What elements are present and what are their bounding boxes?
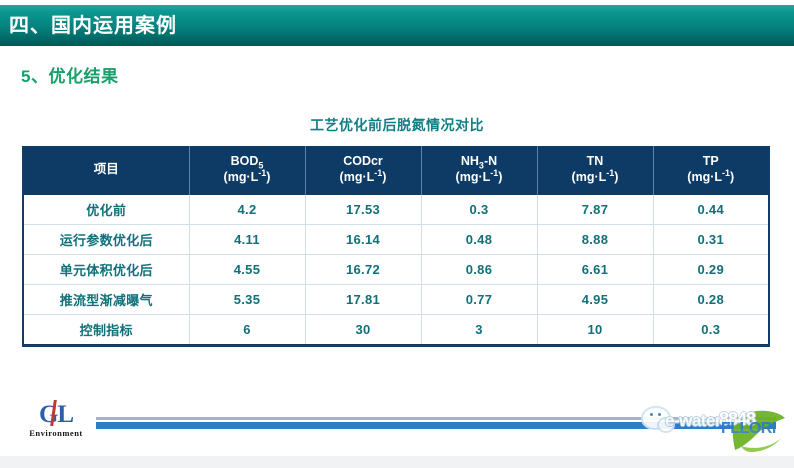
column-header-unit: (mg·L: [572, 170, 607, 184]
column-header-unit: (mg·L: [687, 170, 722, 184]
watermark-brand: FLLORI: [721, 420, 776, 438]
column-header-codcr: CODcr (mg·L-1): [305, 146, 421, 195]
cell-bod5: 4.11: [189, 225, 305, 255]
row-label: 单元体积优化后: [23, 255, 189, 285]
cell-tp: 0.44: [653, 195, 769, 225]
column-header-tn: TN (mg·L-1): [537, 146, 653, 195]
gl-logo-mark: GL: [39, 402, 73, 427]
column-header-label: TP: [703, 154, 719, 168]
table-row: 控制指标 6 30 3 10 0.3: [23, 315, 769, 346]
column-header-label: NH: [461, 154, 479, 168]
cell-codcr: 16.14: [305, 225, 421, 255]
column-header-unit-tail: ): [266, 170, 270, 184]
watermark-overlay: e-water 8848 FLLORI: [635, 404, 794, 456]
column-header-label: BOD: [231, 154, 259, 168]
cell-bod5: 5.35: [189, 285, 305, 315]
column-header-unit-tail: ): [614, 170, 618, 184]
chat-bubble-dot-icon: [650, 413, 653, 416]
table-header: 项目 BOD5 (mg·L-1) CODcr (mg·L-1) NH3-N (m…: [23, 146, 769, 195]
watermark-text: e-water: [665, 411, 721, 431]
cell-nh3n: 0.3: [421, 195, 537, 225]
table-row: 推流型渐减曝气 5.35 17.81 0.77 4.95 0.28: [23, 285, 769, 315]
gl-logo-subtitle: Environment: [20, 428, 92, 438]
cell-bod5: 4.55: [189, 255, 305, 285]
cell-tp: 0.28: [653, 285, 769, 315]
table-caption: 工艺优化前后脱氮情况对比: [0, 115, 794, 135]
cell-nh3n: 3: [421, 315, 537, 346]
cell-tp: 0.31: [653, 225, 769, 255]
cell-tp: 0.29: [653, 255, 769, 285]
cell-nh3n: 0.86: [421, 255, 537, 285]
column-header-unit-tail: ): [498, 170, 502, 184]
column-header-nh3n: NH3-N (mg·L-1): [421, 146, 537, 195]
cell-tn: 7.87: [537, 195, 653, 225]
column-header-unit: (mg·L: [224, 170, 259, 184]
table-row: 运行参数优化后 4.11 16.14 0.48 8.88 0.31: [23, 225, 769, 255]
column-header-unit-tail: ): [382, 170, 386, 184]
row-label: 优化前: [23, 195, 189, 225]
cell-tn: 4.95: [537, 285, 653, 315]
cell-codcr: 16.72: [305, 255, 421, 285]
column-header-tp: TP (mg·L-1): [653, 146, 769, 195]
cell-codcr: 30: [305, 315, 421, 346]
cell-tn: 10: [537, 315, 653, 346]
cell-tn: 8.88: [537, 225, 653, 255]
slide-header-band: 四、国内运用案例: [0, 5, 794, 46]
gl-environment-logo: GL Environment: [20, 402, 92, 438]
table-body: 优化前 4.2 17.53 0.3 7.87 0.44 运行参数优化后 4.11…: [23, 195, 769, 346]
row-label: 运行参数优化后: [23, 225, 189, 255]
column-header-label: 项目: [94, 162, 119, 176]
section-subheading: 5、优化结果: [21, 62, 118, 87]
table-row: 优化前 4.2 17.53 0.3 7.87 0.44: [23, 195, 769, 225]
cell-bod5: 4.2: [189, 195, 305, 225]
column-header-unit-tail: ): [730, 170, 734, 184]
comparison-table: 项目 BOD5 (mg·L-1) CODcr (mg·L-1) NH3-N (m…: [22, 146, 770, 347]
column-header-unit: (mg·L: [340, 170, 375, 184]
cell-codcr: 17.53: [305, 195, 421, 225]
table-header-row: 项目 BOD5 (mg·L-1) CODcr (mg·L-1) NH3-N (m…: [23, 146, 769, 195]
column-header-bod5: BOD5 (mg·L-1): [189, 146, 305, 195]
column-header-unit-exp: -1: [722, 168, 730, 178]
column-header-label: CODcr: [343, 154, 383, 168]
column-header-item: 项目: [23, 146, 189, 195]
column-header-unit: (mg·L: [456, 170, 491, 184]
cell-nh3n: 0.77: [421, 285, 537, 315]
cell-nh3n: 0.48: [421, 225, 537, 255]
slide-header-title: 四、国内运用案例: [0, 16, 177, 36]
cell-bod5: 6: [189, 315, 305, 346]
cell-tn: 6.61: [537, 255, 653, 285]
cell-codcr: 17.81: [305, 285, 421, 315]
column-header-label-tail: -N: [484, 154, 497, 168]
row-label: 推流型渐减曝气: [23, 285, 189, 315]
table-row: 单元体积优化后 4.55 16.72 0.86 6.61 0.29: [23, 255, 769, 285]
column-header-label: TN: [587, 154, 604, 168]
row-label: 控制指标: [23, 315, 189, 346]
cell-tp: 0.3: [653, 315, 769, 346]
comparison-table-wrapper: 项目 BOD5 (mg·L-1) CODcr (mg·L-1) NH3-N (m…: [22, 146, 768, 347]
chat-bubble-dot-icon: [658, 413, 661, 416]
slide-bottom-strip: [0, 456, 794, 468]
